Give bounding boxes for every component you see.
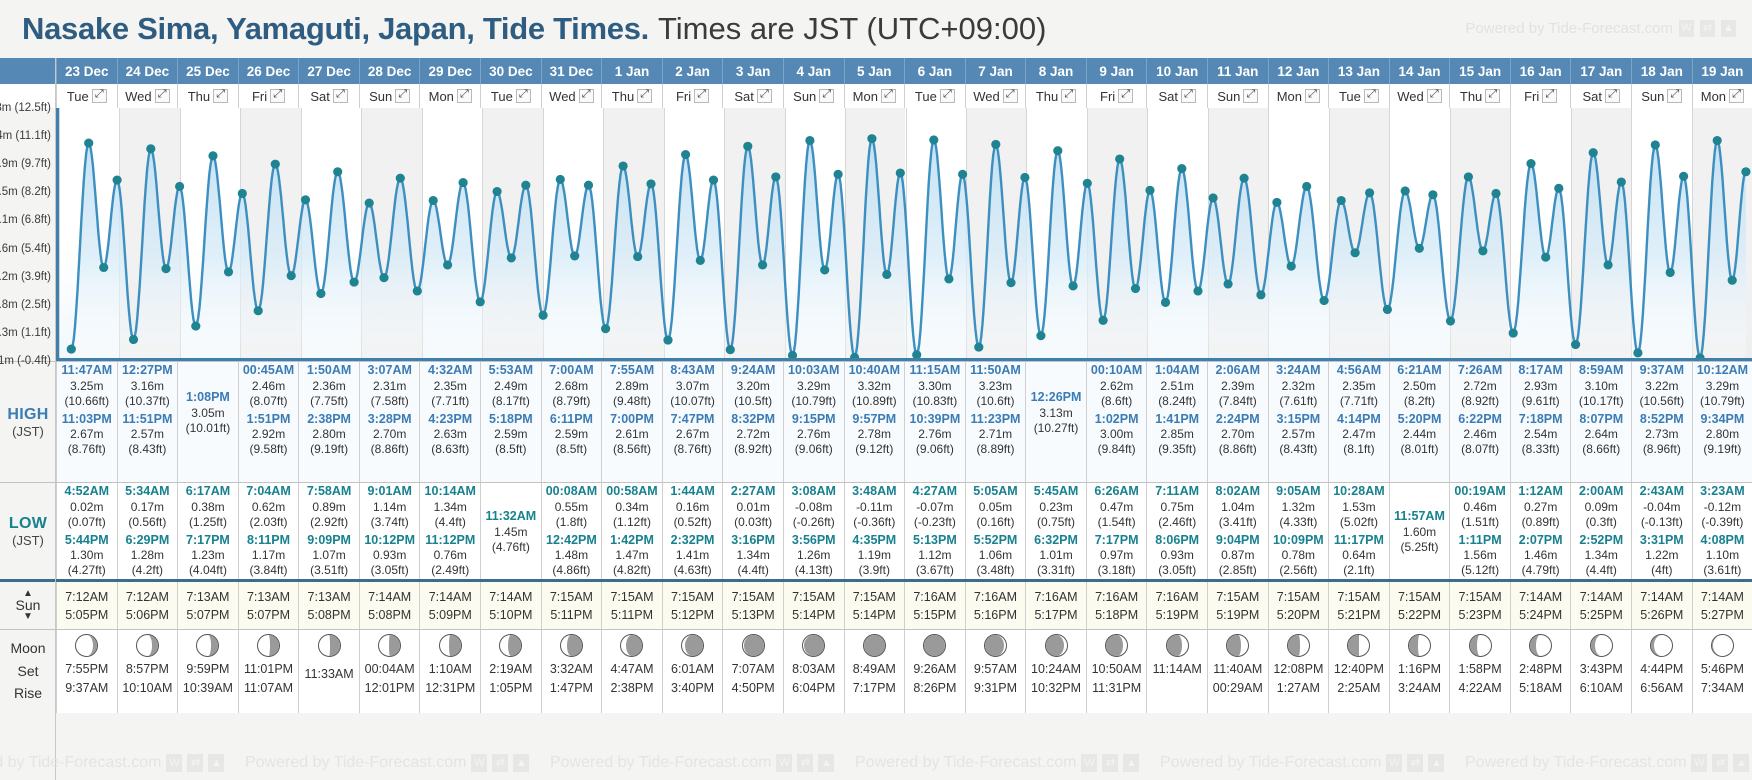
date-header-cell[interactable]: 31 Dec bbox=[541, 58, 602, 84]
tide-entry: 9:09PM1.07m(3.51ft) bbox=[299, 533, 359, 579]
sunrise-time: 7:15AM bbox=[792, 590, 835, 604]
sun-cell: 7:15AM5:19PM bbox=[1207, 582, 1268, 629]
high-tide-point bbox=[1115, 154, 1124, 163]
sunset-time: 5:27PM bbox=[1701, 608, 1744, 622]
tide-height-feet: (9.06ft) bbox=[916, 442, 954, 457]
weekday-label: Sun bbox=[1217, 89, 1240, 104]
sunset-time: 5:07PM bbox=[247, 608, 290, 622]
expand-icon[interactable] bbox=[1364, 89, 1379, 103]
date-header-cell[interactable]: 5 Jan bbox=[844, 58, 905, 84]
high-tide-cell: 8:59AM3.10m(10.17ft)8:07PM2.64m(8.66ft) bbox=[1570, 362, 1631, 482]
low-tide-point bbox=[1604, 260, 1613, 269]
high-tide-point bbox=[991, 140, 1000, 149]
tide-height-feet: (5.12ft) bbox=[1461, 563, 1499, 578]
tide-height-feet: (10.17ft) bbox=[1579, 394, 1624, 409]
date-header-cell[interactable]: 30 Dec bbox=[480, 58, 541, 84]
tide-time: 00:10AM bbox=[1091, 363, 1142, 379]
date-row-label-spacer bbox=[0, 58, 56, 84]
expand-icon[interactable] bbox=[395, 89, 410, 103]
tide-height-feet: (4.33ft) bbox=[1279, 515, 1317, 530]
tide-height-feet: (-0.26ft) bbox=[793, 515, 835, 530]
high-tide-point bbox=[493, 187, 502, 196]
low-tide-point bbox=[443, 260, 452, 269]
tide-chart-plot[interactable]: 12:12 bbox=[56, 108, 1752, 361]
tide-height-meters: 0.05m bbox=[979, 500, 1012, 515]
tide-entry: 2:52PM1.34m(4.4ft) bbox=[1571, 533, 1631, 579]
moonrise-time: 10:10AM bbox=[122, 681, 172, 695]
sunrise-time: 7:14AM bbox=[489, 590, 532, 604]
expand-icon[interactable] bbox=[1003, 89, 1018, 103]
tide-time: 3:16PM bbox=[731, 533, 775, 549]
windguru-icon: W bbox=[166, 754, 182, 772]
tide-entry: 5:34AM0.17m(0.56ft) bbox=[118, 484, 178, 530]
tide-height-feet: (8.24ft) bbox=[1158, 394, 1196, 409]
date-header-cell[interactable]: 9 Jan bbox=[1086, 58, 1147, 84]
tide-time: 3:15PM bbox=[1276, 412, 1320, 428]
weekday-cell: Sun bbox=[359, 84, 420, 108]
high-tide-point bbox=[1428, 190, 1437, 199]
tide-entry: 5:53AM2.49m(8.17ft) bbox=[481, 363, 541, 409]
tide-entry: 11:17PM0.64m(2.1ft) bbox=[1329, 533, 1389, 579]
tide-height-meters: 1.06m bbox=[979, 548, 1012, 563]
weekday-cell: Sat bbox=[1146, 84, 1207, 108]
tide-height-feet: (3.48ft) bbox=[976, 563, 1014, 578]
date-header-cell[interactable]: 16 Jan bbox=[1510, 58, 1571, 84]
low-tide-point bbox=[1446, 316, 1455, 325]
weekday-label: Mon bbox=[429, 89, 454, 104]
expand-icon[interactable] bbox=[1427, 89, 1442, 103]
high-tide-cell: 11:15AM3.30m(10.83ft)10:39PM2.76m(9.06ft… bbox=[904, 362, 965, 482]
expand-icon[interactable] bbox=[579, 89, 594, 103]
low-tide-point bbox=[67, 345, 76, 354]
expand-icon[interactable] bbox=[333, 89, 348, 103]
expand-icon[interactable] bbox=[213, 89, 228, 103]
low-tide-point bbox=[1256, 290, 1265, 299]
refresh-icon: ⇄ bbox=[1712, 754, 1728, 772]
tide-height-feet: (4.04ft) bbox=[189, 563, 227, 578]
moonrise-time: 7:17PM bbox=[853, 681, 896, 695]
tide-time: 11:32AM bbox=[485, 509, 536, 525]
moonrise-time: 10:32PM bbox=[1031, 681, 1081, 695]
expand-icon[interactable] bbox=[270, 89, 285, 103]
tide-height-feet: (0.07ft) bbox=[68, 515, 106, 530]
weekday-cell: Wed bbox=[1389, 84, 1450, 108]
tide-entry: 11:50AM3.23m(10.6ft) bbox=[966, 363, 1026, 409]
high-tide-point bbox=[84, 139, 93, 148]
tide-height-feet: (8.89ft) bbox=[976, 442, 1014, 457]
low-tide-cell: 8:02AM1.04m(3.41ft)9:04PM0.87m(2.85ft) bbox=[1207, 483, 1268, 579]
low-tide-point bbox=[539, 311, 548, 320]
tide-time: 6:21AM bbox=[1397, 363, 1441, 379]
sunrise-time: 7:15AM bbox=[1216, 590, 1259, 604]
tide-time: 8:02AM bbox=[1216, 484, 1260, 500]
date-header-cell[interactable]: 23 Dec bbox=[56, 58, 117, 84]
tide-height-meters: 0.97m bbox=[1100, 548, 1133, 563]
sunrise-time: 7:13AM bbox=[247, 590, 290, 604]
moon-label: Moon Set Rise bbox=[0, 630, 56, 713]
tide-height-meters: 2.89m bbox=[615, 379, 648, 394]
weekday-label: Wed bbox=[1397, 89, 1424, 104]
tide-time: 3:48AM bbox=[852, 484, 896, 500]
expand-icon[interactable] bbox=[1485, 89, 1500, 103]
date-header-cell[interactable]: 11 Jan bbox=[1207, 58, 1268, 84]
high-tide-cell: 1:08PM3.05m(10.01ft) bbox=[177, 362, 238, 482]
tide-time: 8:07PM bbox=[1579, 412, 1623, 428]
tide-height-meters: 2.64m bbox=[1585, 427, 1618, 442]
sun-cell: 7:16AM5:17PM bbox=[1025, 582, 1086, 629]
tide-height-meters: 1.48m bbox=[555, 548, 588, 563]
weekday-label: Tue bbox=[67, 89, 89, 104]
tide-time: 1:51PM bbox=[247, 412, 291, 428]
expand-icon[interactable] bbox=[1181, 89, 1196, 103]
low-tide-point bbox=[224, 267, 233, 276]
expand-icon[interactable] bbox=[1061, 89, 1076, 103]
tide-entry: 11:23PM2.71m(8.89ft) bbox=[966, 412, 1026, 458]
low-tide-point bbox=[1320, 296, 1329, 305]
buoy-icon: ▲ bbox=[513, 754, 529, 772]
moonset-time: 1:10AM bbox=[429, 662, 472, 676]
tide-height-meters: 3.20m bbox=[736, 379, 769, 394]
date-header-cell[interactable]: 15 Jan bbox=[1449, 58, 1510, 84]
low-tide-point bbox=[1415, 244, 1424, 253]
tide-height-feet: (4.76ft) bbox=[492, 540, 530, 555]
low-tide-cell: 7:58AM0.89m(2.92ft)9:09PM1.07m(3.51ft) bbox=[298, 483, 359, 579]
tide-height-meters: 2.85m bbox=[1161, 427, 1194, 442]
tide-entry: 12:27PM3.16m(10.37ft) bbox=[118, 363, 178, 409]
buoy-icon: ▲ bbox=[1721, 20, 1736, 37]
expand-icon[interactable] bbox=[1605, 89, 1620, 103]
expand-icon[interactable] bbox=[92, 89, 107, 103]
tide-time: 8:59AM bbox=[1579, 363, 1623, 379]
tide-height-feet: (7.71ft) bbox=[431, 394, 469, 409]
high-tide-cell: 1:50AM2.36m(7.75ft)2:38PM2.80m(9.19ft) bbox=[298, 362, 359, 482]
tide-entry: 10:12AM3.29m(10.79ft) bbox=[1693, 363, 1752, 409]
moon-row: Moon Set Rise 7:55PM9:37AM8:57PM10:10AM9… bbox=[0, 629, 1752, 713]
high-tide-point bbox=[929, 135, 938, 144]
moonrise-time: 9:31PM bbox=[974, 681, 1017, 695]
tide-time: 5:05AM bbox=[973, 484, 1017, 500]
expand-icon[interactable] bbox=[1542, 89, 1557, 103]
moon-phase-icon bbox=[1045, 634, 1068, 657]
date-header-cell[interactable]: 12 Jan bbox=[1268, 58, 1329, 84]
powered-by-watermark: Powered by Tide-Forecast.comW⇄▲ bbox=[245, 754, 529, 772]
tide-height-feet: (4.4ft) bbox=[435, 515, 466, 530]
tide-sheet: 23 Dec24 Dec25 Dec26 Dec27 Dec28 Dec29 D… bbox=[0, 58, 1752, 713]
weekday-cell: Thu bbox=[1449, 84, 1510, 108]
date-header-cell[interactable]: 14 Jan bbox=[1389, 58, 1450, 84]
date-header-cell[interactable]: 18 Jan bbox=[1631, 58, 1692, 84]
moon-cell: 2:48PM5:18AM bbox=[1510, 630, 1571, 713]
tide-entry: 7:11AM0.75m(2.46ft) bbox=[1147, 484, 1207, 530]
date-header-cell[interactable]: 4 Jan bbox=[783, 58, 844, 84]
tide-time: 2:38PM bbox=[307, 412, 351, 428]
tide-height-meters: 2.32m bbox=[1282, 379, 1315, 394]
tide-entry: 3:24AM2.32m(7.61ft) bbox=[1269, 363, 1329, 409]
high-tide-cell: 4:56AM2.35m(7.71ft)4:14PM2.47m(8.1ft) bbox=[1328, 362, 1389, 482]
date-header-cell[interactable]: 24 Dec bbox=[117, 58, 178, 84]
tide-time: 00:58AM bbox=[606, 484, 657, 500]
low-tide-point bbox=[379, 273, 388, 282]
weekday-cell: Wed bbox=[965, 84, 1026, 108]
low-tide-point bbox=[633, 252, 642, 261]
date-header-cell[interactable]: 19 Jan bbox=[1692, 58, 1752, 84]
tide-entry: 2:32PM1.41m(4.63ft) bbox=[663, 533, 723, 579]
tide-time: 3:07AM bbox=[367, 363, 411, 379]
tide-time: 1:04AM bbox=[1155, 363, 1199, 379]
tide-time: 7:00PM bbox=[610, 412, 654, 428]
y-axis-tick: 0.1m (-0.4ft) bbox=[0, 355, 51, 367]
tide-chart-row: 3.8m (12.5ft)3.4m (11.1ft)2.9m (9.7ft)2.… bbox=[0, 108, 1752, 361]
tide-entry: 2:06AM2.39m(7.84ft) bbox=[1208, 363, 1268, 409]
tide-height-feet: (10.5ft) bbox=[734, 394, 772, 409]
low-tide-cell: 11:57AM1.60m(5.25ft) bbox=[1389, 483, 1450, 579]
high-tide-point bbox=[1741, 167, 1750, 176]
tide-height-feet: (8.6ft) bbox=[1101, 394, 1132, 409]
moonset-time: 1:16PM bbox=[1398, 662, 1441, 676]
tide-entry: 2:27AM0.01m(0.03ft) bbox=[723, 484, 783, 530]
tide-time: 7:00AM bbox=[549, 363, 593, 379]
weekday-label: Tue bbox=[1339, 89, 1361, 104]
weekday-label: Sat bbox=[734, 89, 754, 104]
tide-height-feet: (8.17ft) bbox=[492, 394, 530, 409]
moonrise-time: 1:27AM bbox=[1277, 681, 1320, 695]
high-tide-row: HIGH (JST) 11:47AM3.25m(10.66ft)11:03PM2… bbox=[0, 361, 1752, 482]
tide-height-meters: 2.93m bbox=[1524, 379, 1557, 394]
tide-height-feet: (8.56ft) bbox=[613, 442, 651, 457]
tide-entry: 6:32PM1.01m(3.31ft) bbox=[1026, 533, 1086, 579]
date-header-cell[interactable]: 7 Jan bbox=[965, 58, 1026, 84]
tide-time: 1:12AM bbox=[1518, 484, 1562, 500]
expand-icon[interactable] bbox=[757, 89, 772, 103]
tide-entry: 00:58AM0.34m(1.12ft) bbox=[602, 484, 662, 530]
date-header-cell[interactable]: 27 Dec bbox=[298, 58, 359, 84]
low-tide-cell: 1:12AM0.27m(0.89ft)2:07PM1.46m(4.79ft) bbox=[1510, 483, 1571, 579]
moon-phase-icon bbox=[1590, 634, 1613, 657]
tide-entry: 10:39PM2.76m(9.06ft) bbox=[905, 412, 965, 458]
high-tide-cell: 7:55AM2.89m(9.48ft)7:00PM2.61m(8.56ft) bbox=[601, 362, 662, 482]
tide-entry: 5:18PM2.59m(8.5ft) bbox=[481, 412, 541, 458]
tide-height-meters: 2.59m bbox=[494, 427, 527, 442]
high-tide-point bbox=[896, 168, 905, 177]
tide-entry: 6:21AM2.50m(8.2ft) bbox=[1390, 363, 1450, 409]
weekday-label: Thu bbox=[1460, 89, 1482, 104]
moonset-time: 11:14AM bbox=[1153, 662, 1202, 676]
tide-entry: 6:26AM0.47m(1.54ft) bbox=[1087, 484, 1147, 530]
expand-icon[interactable] bbox=[1118, 89, 1133, 103]
tide-entry: 10:03AM3.29m(10.79ft) bbox=[784, 363, 844, 409]
date-header-cell[interactable]: 3 Jan bbox=[722, 58, 783, 84]
tide-height-meters: 2.72m bbox=[736, 427, 769, 442]
sun-cell: 7:13AM5:07PM bbox=[238, 582, 299, 629]
sun-cell: 7:14AM5:25PM bbox=[1570, 582, 1631, 629]
date-header-cell[interactable]: 29 Dec bbox=[419, 58, 480, 84]
date-header-cell[interactable]: 8 Jan bbox=[1025, 58, 1086, 84]
powered-by-watermark: Powered by Tide-Forecast.comW⇄▲ bbox=[1465, 754, 1749, 772]
tide-height-feet: (1.51ft) bbox=[1461, 515, 1499, 530]
tide-time: 1:11PM bbox=[1459, 533, 1502, 549]
date-header-cell[interactable]: 25 Dec bbox=[177, 58, 238, 84]
date-header-cell[interactable]: 28 Dec bbox=[359, 58, 420, 84]
powered-by-text: Powered by Tide-Forecast.com bbox=[1465, 754, 1686, 772]
tide-height-meters: 3.00m bbox=[1100, 427, 1133, 442]
expand-icon[interactable] bbox=[1243, 89, 1258, 103]
tide-height-feet: (-0.13ft) bbox=[1641, 515, 1683, 530]
expand-icon[interactable] bbox=[457, 89, 472, 103]
sunrise-time: 7:13AM bbox=[186, 590, 229, 604]
expand-icon[interactable] bbox=[637, 89, 652, 103]
moonset-time: 6:01AM bbox=[671, 662, 714, 676]
date-header-cell[interactable]: 2 Jan bbox=[662, 58, 723, 84]
sun-cell: 7:13AM5:08PM bbox=[298, 582, 359, 629]
tide-height-meters: 2.54m bbox=[1524, 427, 1557, 442]
high-tide-point bbox=[146, 144, 155, 153]
tide-time: 6:22PM bbox=[1458, 412, 1502, 428]
expand-icon[interactable] bbox=[881, 89, 896, 103]
high-tide-point bbox=[709, 175, 718, 184]
moon-phase-icon bbox=[681, 634, 704, 657]
sun-cell: 7:12AM5:06PM bbox=[117, 582, 178, 629]
moon-cell: 12:08PM1:27AM bbox=[1268, 630, 1329, 713]
tide-height-feet: (8.96ft) bbox=[1643, 442, 1681, 457]
low-tide-point bbox=[1571, 340, 1580, 349]
moon-phase-icon bbox=[1408, 634, 1431, 657]
tide-entry: 1:42PM1.47m(4.82ft) bbox=[602, 533, 662, 579]
tide-entry: 8:59AM3.10m(10.17ft) bbox=[1571, 363, 1631, 409]
y-axis-tick: 0.3m (1.1ft) bbox=[0, 327, 51, 339]
tide-time: 6:32PM bbox=[1034, 533, 1078, 549]
weekday-label: Sat bbox=[310, 89, 330, 104]
moon-cell: 11:40AM00:29AM bbox=[1207, 630, 1268, 713]
tide-height-feet: (8.66ft) bbox=[1582, 442, 1620, 457]
tide-height-feet: (0.52ft) bbox=[674, 515, 712, 530]
powered-by-text: Powered by Tide-Forecast.com bbox=[0, 754, 161, 772]
high-tide-point bbox=[958, 170, 967, 179]
tide-height-meters: 0.76m bbox=[434, 548, 467, 563]
low-tide-cell: 1:44AM0.16m(0.52ft)2:32PM1.41m(4.63ft) bbox=[662, 483, 723, 579]
tide-height-feet: (2.56ft) bbox=[1279, 563, 1317, 578]
tide-height-meters: 0.27m bbox=[1524, 500, 1557, 515]
moonset-time: 00:04AM bbox=[365, 662, 415, 676]
tide-entry: 11:47AM3.25m(10.66ft) bbox=[57, 363, 117, 409]
tide-height-meters: 1.60m bbox=[1403, 525, 1436, 540]
tide-height-meters: 3.22m bbox=[1645, 379, 1678, 394]
tide-height-meters: 0.23m bbox=[1039, 500, 1072, 515]
sun-cell: 7:15AM5:22PM bbox=[1389, 582, 1450, 629]
buoy-icon: ▲ bbox=[208, 754, 224, 772]
tide-entry: 2:43AM-0.04m(-0.13ft) bbox=[1632, 484, 1692, 530]
tide-time: 2:00AM bbox=[1579, 484, 1623, 500]
tide-time: 7:55AM bbox=[610, 363, 654, 379]
tide-time: 7:11AM bbox=[1155, 484, 1199, 500]
sunrise-time: 7:15AM bbox=[550, 590, 593, 604]
tide-entry: 10:28AM1.53m(5.02ft) bbox=[1329, 484, 1389, 530]
sunset-time: 5:10PM bbox=[489, 608, 532, 622]
tide-height-meters: 3.16m bbox=[131, 379, 164, 394]
tide-height-meters: 1.19m bbox=[858, 548, 891, 563]
low-tide-point bbox=[191, 322, 200, 331]
tide-height-meters: 0.34m bbox=[615, 500, 648, 515]
y-axis-tick: 1.2m (3.9ft) bbox=[0, 271, 51, 283]
tide-time: 9:57PM bbox=[852, 412, 896, 428]
tide-time: 10:40AM bbox=[849, 363, 900, 379]
expand-icon[interactable] bbox=[155, 89, 170, 103]
sunset-time: 5:09PM bbox=[429, 608, 472, 622]
tide-height-meters: 2.78m bbox=[858, 427, 891, 442]
tide-height-feet: (8.76ft) bbox=[68, 442, 106, 457]
tide-entry: 00:19AM0.46m(1.51ft) bbox=[1450, 484, 1510, 530]
tide-entry: 3:07AM2.31m(7.58ft) bbox=[360, 363, 420, 409]
expand-icon[interactable] bbox=[819, 89, 834, 103]
tide-height-meters: 2.49m bbox=[494, 379, 527, 394]
tide-height-feet: (0.16ft) bbox=[976, 515, 1014, 530]
date-header-cell[interactable]: 6 Jan bbox=[904, 58, 965, 84]
low-tide-point bbox=[1006, 278, 1015, 287]
tide-height-feet: (8.1ft) bbox=[1343, 442, 1374, 457]
tide-time: 5:53AM bbox=[489, 363, 533, 379]
low-tide-cell: 9:01AM1.14m(3.74ft)10:12PM0.93m(3.05ft) bbox=[359, 483, 420, 579]
high-tide-point bbox=[1651, 140, 1660, 149]
expand-icon[interactable] bbox=[1729, 89, 1744, 103]
tide-height-feet: (2.92ft) bbox=[310, 515, 348, 530]
tide-height-feet: (7.75ft) bbox=[310, 394, 348, 409]
date-header-cell[interactable]: 26 Dec bbox=[238, 58, 299, 84]
date-header-cell[interactable]: 10 Jan bbox=[1146, 58, 1207, 84]
moonset-time: 2:48PM bbox=[1519, 662, 1562, 676]
low-tide-cell: 11:32AM1.45m(4.76ft) bbox=[480, 483, 541, 579]
tide-entry: 7:00AM2.68m(8.79ft) bbox=[542, 363, 602, 409]
tide-height-meters: 1.53m bbox=[1342, 500, 1375, 515]
powered-by-text: Powered by Tide-Forecast.com bbox=[855, 754, 1076, 772]
weekday-label: Fri bbox=[252, 89, 267, 104]
tide-time: 11:15AM bbox=[910, 363, 961, 379]
date-header-cell[interactable]: 17 Jan bbox=[1570, 58, 1631, 84]
expand-icon[interactable] bbox=[694, 89, 709, 103]
tide-height-feet: (9.35ft) bbox=[1158, 442, 1196, 457]
sun-cell: 7:14AM5:27PM bbox=[1692, 582, 1752, 629]
tide-height-feet: (3.61ft) bbox=[1703, 563, 1741, 578]
date-header-cell[interactable]: 13 Jan bbox=[1328, 58, 1389, 84]
high-tide-cell: 00:10AM2.62m(8.6ft)1:02PM3.00m(9.84ft) bbox=[1086, 362, 1147, 482]
moonset-time: 8:57PM bbox=[126, 662, 169, 676]
moon-cell: 1:16PM3:24AM bbox=[1389, 630, 1450, 713]
y-axis-tick: 3.4m (11.1ft) bbox=[0, 130, 51, 142]
high-tide-tz-text: (JST) bbox=[12, 424, 44, 439]
tide-height-feet: (9.19ft) bbox=[310, 442, 348, 457]
tide-time: 11:57AM bbox=[1394, 509, 1445, 525]
moonrise-time: 12:01PM bbox=[365, 681, 415, 695]
tide-height-feet: (10.89ft) bbox=[852, 394, 897, 409]
tide-height-feet: (9.12ft) bbox=[855, 442, 893, 457]
date-header-cell[interactable]: 1 Jan bbox=[601, 58, 662, 84]
tide-time: 11:12PM bbox=[425, 533, 475, 549]
tide-time: 9:01AM bbox=[367, 484, 411, 500]
tide-height-meters: -0.08m bbox=[795, 500, 832, 515]
tide-entry: 3:31PM1.22m(4ft) bbox=[1632, 533, 1692, 579]
tide-entry: 4:56AM2.35m(7.71ft) bbox=[1329, 363, 1389, 409]
weekday-label: Thu bbox=[188, 89, 210, 104]
expand-icon[interactable] bbox=[1667, 89, 1682, 103]
high-tide-point bbox=[1401, 186, 1410, 195]
expand-icon[interactable] bbox=[1305, 89, 1320, 103]
tide-height-meters: 2.47m bbox=[1342, 427, 1375, 442]
expand-icon[interactable] bbox=[516, 89, 531, 103]
tide-time: 12:26PM bbox=[1031, 390, 1082, 406]
expand-icon[interactable] bbox=[940, 89, 955, 103]
moonset-time: 10:24AM bbox=[1031, 662, 1081, 676]
windguru-icon: W bbox=[1386, 754, 1402, 772]
y-axis-tick: 2.9m (9.7ft) bbox=[0, 158, 51, 170]
weekday-label: Mon bbox=[1277, 89, 1302, 104]
